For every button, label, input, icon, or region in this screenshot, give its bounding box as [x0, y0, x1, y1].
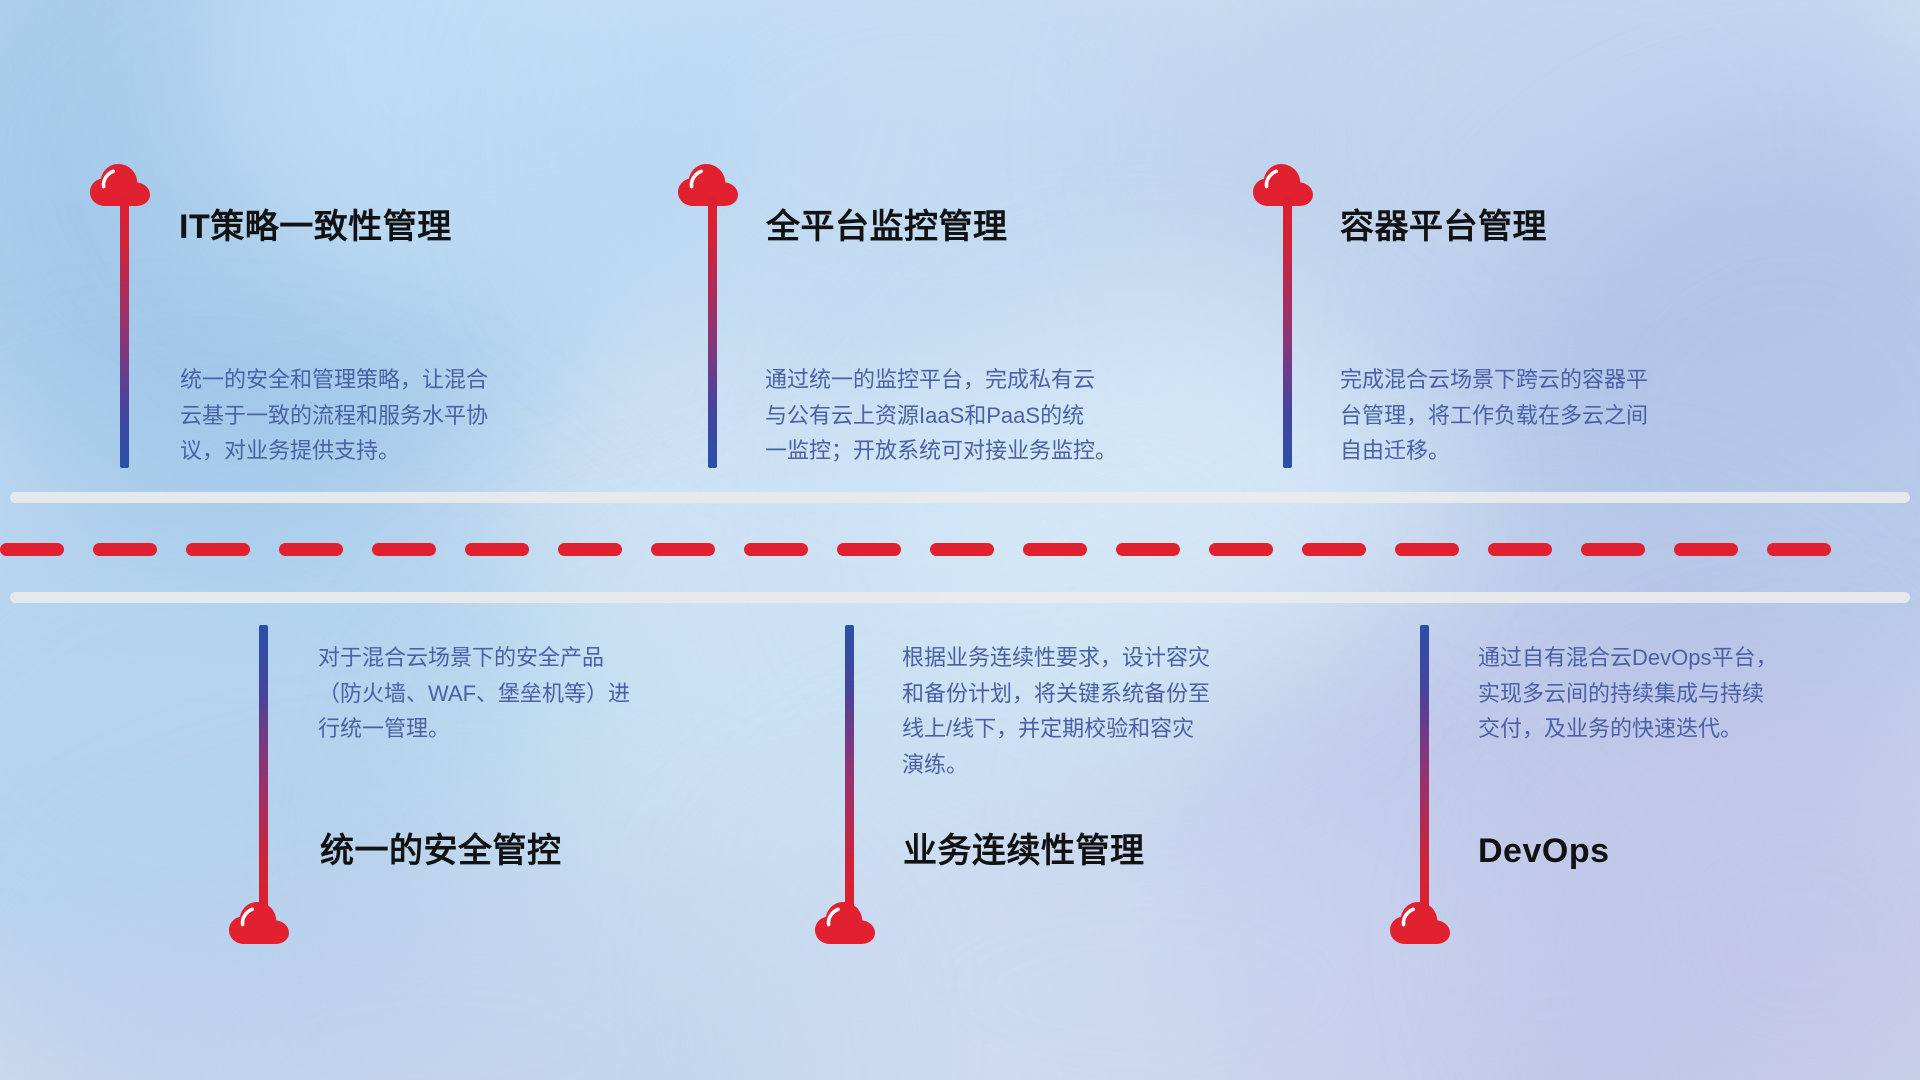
- column-stem: [845, 625, 854, 915]
- column-stem: [1283, 196, 1292, 468]
- divider-dash: [372, 543, 436, 556]
- divider-dash: [1395, 543, 1459, 556]
- column-heading: DevOps: [1478, 831, 1610, 872]
- column-body-text: 统一的安全和管理策略，让混合 云基于一致的流程和服务水平协 议，对业务提供支持。: [180, 362, 600, 469]
- divider-dash: [837, 543, 901, 556]
- divider-dash: [1302, 543, 1366, 556]
- divider-dash: [279, 543, 343, 556]
- column-heading: 全平台监控管理: [766, 207, 1008, 248]
- cloud-icon: [1388, 898, 1452, 946]
- column-body-text: 对于混合云场景下的安全产品 （防火墙、WAF、堡垒机等）进 行统一管理。: [318, 640, 738, 747]
- divider-dash: [744, 543, 808, 556]
- column-body-text: 根据业务连续性要求，设计容灾 和备份计划，将关键系统备份至 线上/线下，并定期校…: [902, 640, 1322, 783]
- divider-dash: [1116, 543, 1180, 556]
- divider-dash: [1209, 543, 1273, 556]
- divider-dashed-line: [0, 543, 1920, 556]
- divider-line-bottom: [10, 592, 1910, 603]
- column-heading: 业务连续性管理: [903, 831, 1145, 872]
- divider-dash: [651, 543, 715, 556]
- column-heading: 容器平台管理: [1340, 207, 1547, 248]
- column-stem: [1420, 625, 1429, 915]
- divider-dash: [930, 543, 994, 556]
- cloud-icon: [227, 898, 291, 946]
- cloud-icon: [813, 898, 877, 946]
- column-heading: 统一的安全管控: [320, 831, 562, 872]
- column-heading: IT策略一致性管理: [179, 207, 452, 248]
- column-body-text: 通过自有混合云DevOps平台， 实现多云间的持续集成与持续 交付，及业务的快速…: [1478, 640, 1898, 747]
- divider-dash: [465, 543, 529, 556]
- infographic-stage: IT策略一致性管理 统一的安全和管理策略，让混合 云基于一致的流程和服务水平协 …: [0, 0, 1920, 1080]
- divider-dash: [1767, 543, 1831, 556]
- divider-dash: [1674, 543, 1738, 556]
- column-stem: [259, 625, 268, 915]
- divider-dash: [93, 543, 157, 556]
- divider-dash: [1581, 543, 1645, 556]
- divider-dash: [1488, 543, 1552, 556]
- column-body-text: 完成混合云场景下跨云的容器平 台管理，将工作负载在多云之间 自由迁移。: [1340, 362, 1770, 469]
- divider-dash: [0, 543, 64, 556]
- column-stem: [120, 196, 129, 468]
- divider-dash: [558, 543, 622, 556]
- divider-dash: [1023, 543, 1087, 556]
- column-body-text: 通过统一的监控平台，完成私有云 与公有云上资源IaaS和PaaS的统 一监控；开…: [765, 362, 1205, 469]
- column-stem: [708, 196, 717, 468]
- divider-line-top: [10, 492, 1910, 503]
- divider-dash: [186, 543, 250, 556]
